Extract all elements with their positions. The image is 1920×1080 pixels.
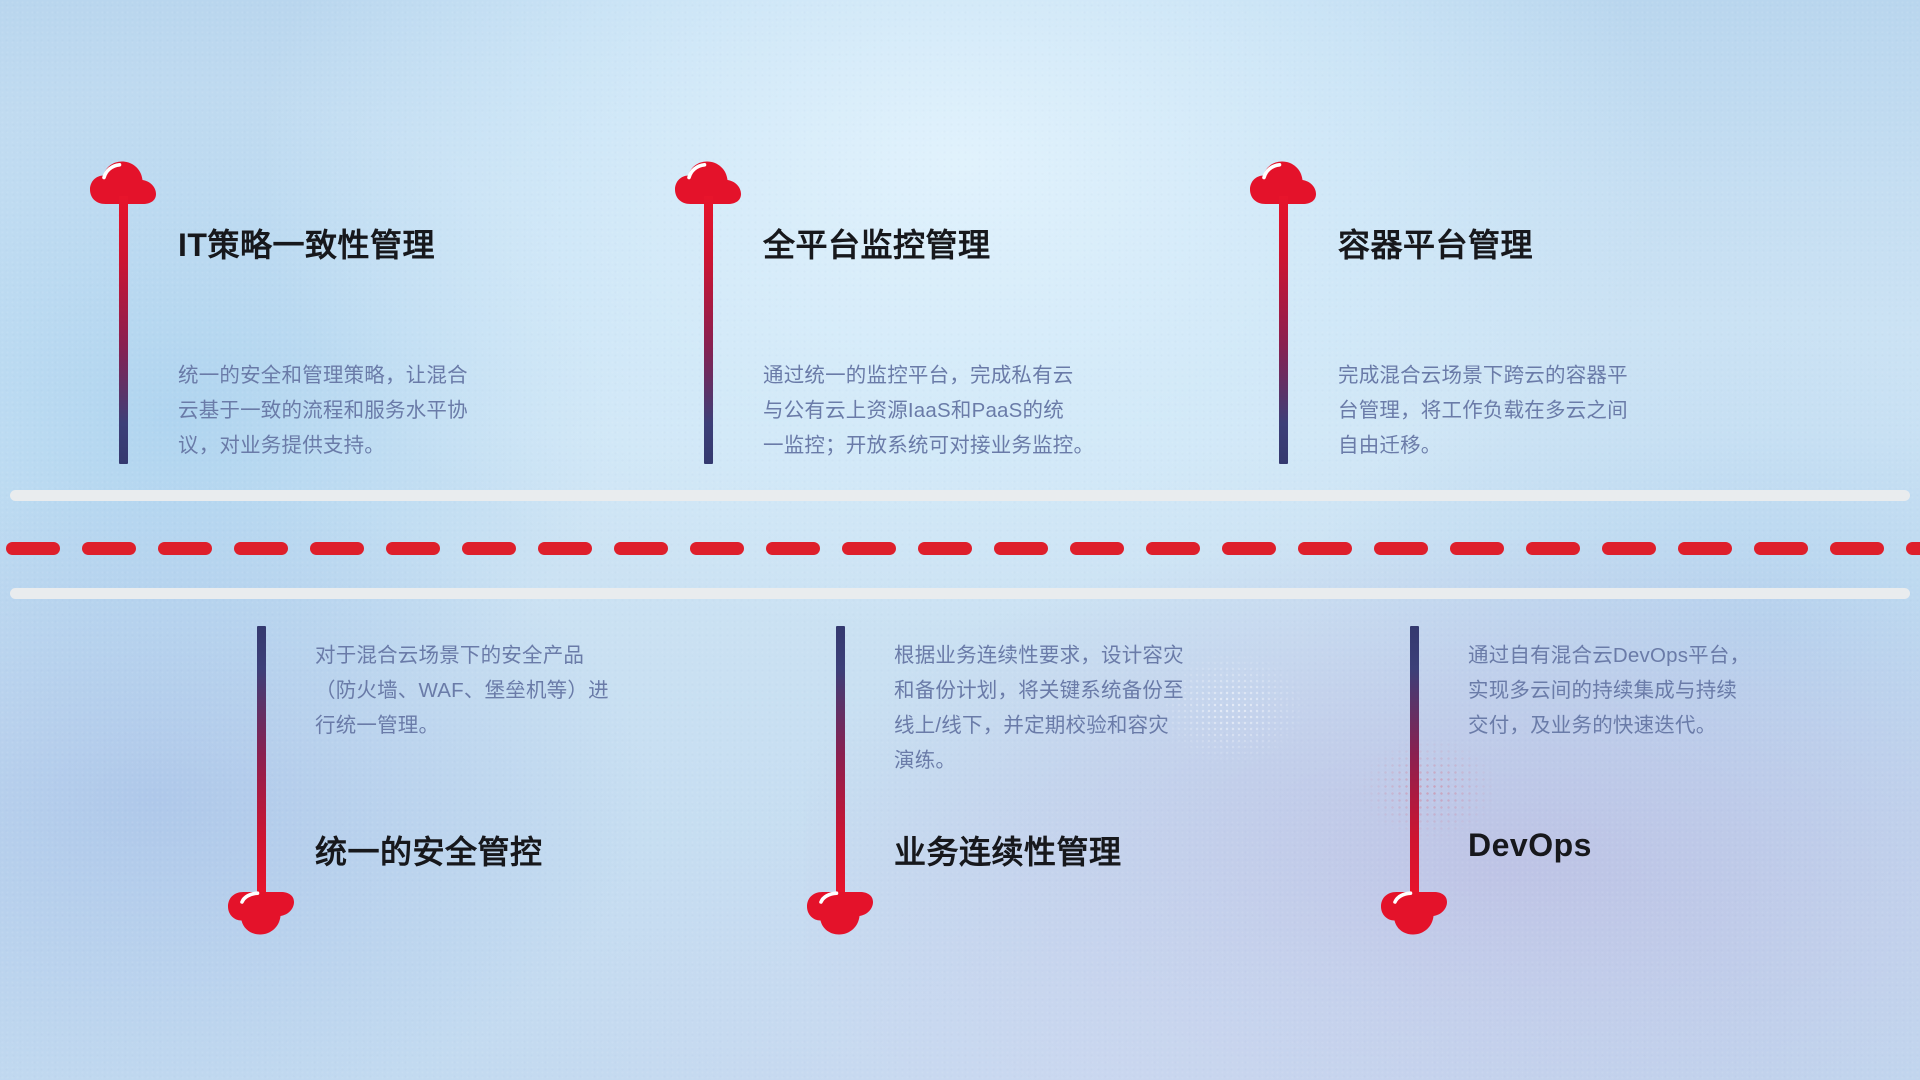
top-item-2-heading: 全平台监控管理 (763, 220, 991, 266)
divider-dash (310, 542, 364, 555)
divider-dash (158, 542, 212, 555)
divider-dash (234, 542, 288, 555)
bottom-item-2-heading: 业务连续性管理 (894, 827, 1122, 873)
divider-dash (1602, 542, 1656, 555)
bottom-item-3-heading: DevOps (1468, 827, 1592, 864)
divider-dash (918, 542, 972, 555)
divider-dash (1298, 542, 1352, 555)
divider-dash (1146, 542, 1200, 555)
cloud-icon (226, 890, 296, 936)
timeline-stem (704, 196, 713, 464)
timeline-stem (836, 626, 845, 894)
cloud-icon (805, 890, 875, 936)
bottom-item-1-heading: 统一的安全管控 (315, 827, 543, 873)
divider-dash (766, 542, 820, 555)
divider-dash (462, 542, 516, 555)
divider-dash (6, 542, 60, 555)
divider-rule-top (10, 490, 1910, 501)
divider-dash (1450, 542, 1504, 555)
top-item-3-heading: 容器平台管理 (1338, 220, 1533, 266)
bottom-item-2-body: 根据业务连续性要求，设计容灾 和备份计划，将关键系统备份至 线上/线下，并定期校… (894, 638, 1334, 778)
top-item-2-body: 通过统一的监控平台，完成私有云 与公有云上资源IaaS和PaaS的统 一监控；开… (763, 358, 1213, 463)
divider-dash (82, 542, 136, 555)
divider-dash (1830, 542, 1884, 555)
top-item-1-heading: IT策略一致性管理 (178, 220, 435, 266)
divider-dash (842, 542, 896, 555)
top-item-3-body: 完成混合云场景下跨云的容器平 台管理，将工作负载在多云之间 自由迁移。 (1338, 358, 1768, 463)
bottom-item-1-body: 对于混合云场景下的安全产品 （防火墙、WAF、堡垒机等）进 行统一管理。 (315, 638, 745, 743)
bottom-item-3-body: 通过自有混合云DevOps平台， 实现多云间的持续集成与持续 交付，及业务的快速… (1468, 638, 1898, 743)
divider-dash (1070, 542, 1124, 555)
divider-rule-bottom (10, 588, 1910, 599)
divider-dash (386, 542, 440, 555)
timeline-stem (119, 196, 128, 464)
divider-dash (1526, 542, 1580, 555)
divider-dash (1906, 542, 1920, 555)
cloud-icon (1379, 890, 1449, 936)
top-item-1-body: 统一的安全和管理策略，让混合 云基于一致的流程和服务水平协 议，对业务提供支持。 (178, 358, 608, 463)
divider-dash (1374, 542, 1428, 555)
divider-dash (690, 542, 744, 555)
divider-dash (1222, 542, 1276, 555)
timeline-stem (1410, 626, 1419, 894)
divider-dashed-line (0, 542, 1920, 555)
divider-dash (538, 542, 592, 555)
timeline-stem (257, 626, 266, 894)
divider-dash (1754, 542, 1808, 555)
divider-dash (1678, 542, 1732, 555)
divider-dash (614, 542, 668, 555)
timeline-stem (1279, 196, 1288, 464)
divider-dash (994, 542, 1048, 555)
